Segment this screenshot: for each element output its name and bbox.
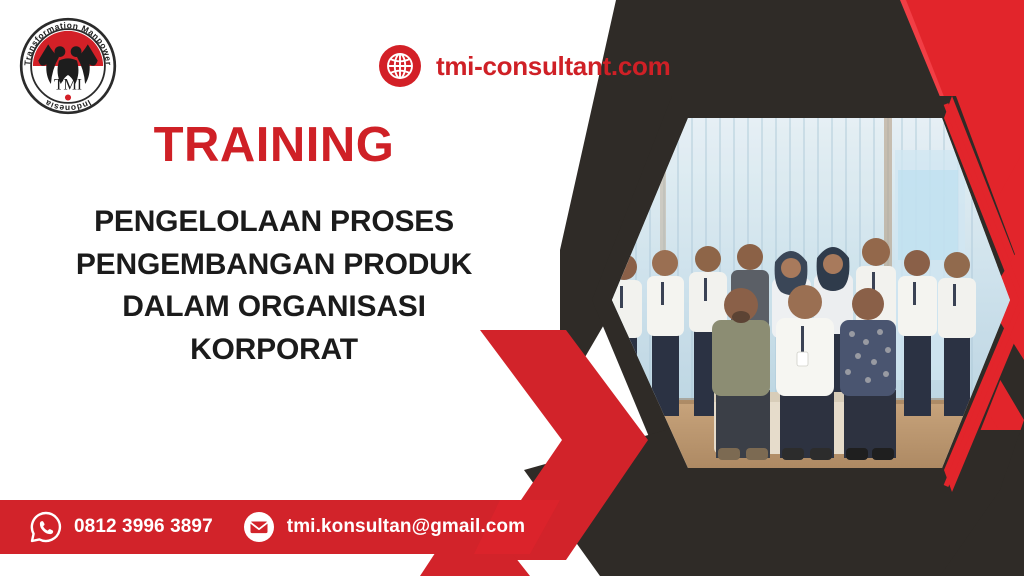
tmi-logo: TMI Transformation Manpower Indonesia bbox=[14, 12, 122, 120]
contact-phone[interactable]: 0812 3996 3897 bbox=[30, 511, 213, 543]
page-subtitle: PENGELOLAAN PROSES PENGEMBANGAN PRODUK D… bbox=[24, 201, 524, 371]
subject-line-1: PENGELOLAAN PROSES bbox=[24, 201, 524, 244]
website-line[interactable]: tmi-consultant.com bbox=[378, 44, 670, 88]
logo-initials: TMI bbox=[54, 76, 82, 93]
contact-email[interactable]: tmi.konsultan@gmail.com bbox=[243, 511, 525, 543]
subject-line-4: KORPORAT bbox=[24, 329, 524, 372]
page-title-training: TRAINING bbox=[0, 121, 548, 170]
phone-number[interactable]: 0812 3996 3897 bbox=[74, 516, 213, 538]
subject-line-3: DALAM ORGANISASI bbox=[24, 286, 524, 329]
photo-front-row bbox=[712, 285, 896, 460]
whatsapp-icon bbox=[30, 511, 62, 543]
website-url[interactable]: tmi-consultant.com bbox=[436, 51, 670, 82]
globe-icon bbox=[378, 44, 422, 88]
subject-line-2: PENGEMBANGAN PRODUK bbox=[24, 244, 524, 287]
logo-dot bbox=[65, 94, 71, 100]
email-address[interactable]: tmi.konsultan@gmail.com bbox=[287, 516, 525, 538]
training-poster: TMI Transformation Manpower Indonesia bbox=[0, 0, 1024, 576]
email-icon bbox=[243, 511, 275, 543]
footer-contact-items: 0812 3996 3897 tmi.konsultan@gmail.com bbox=[0, 500, 525, 554]
